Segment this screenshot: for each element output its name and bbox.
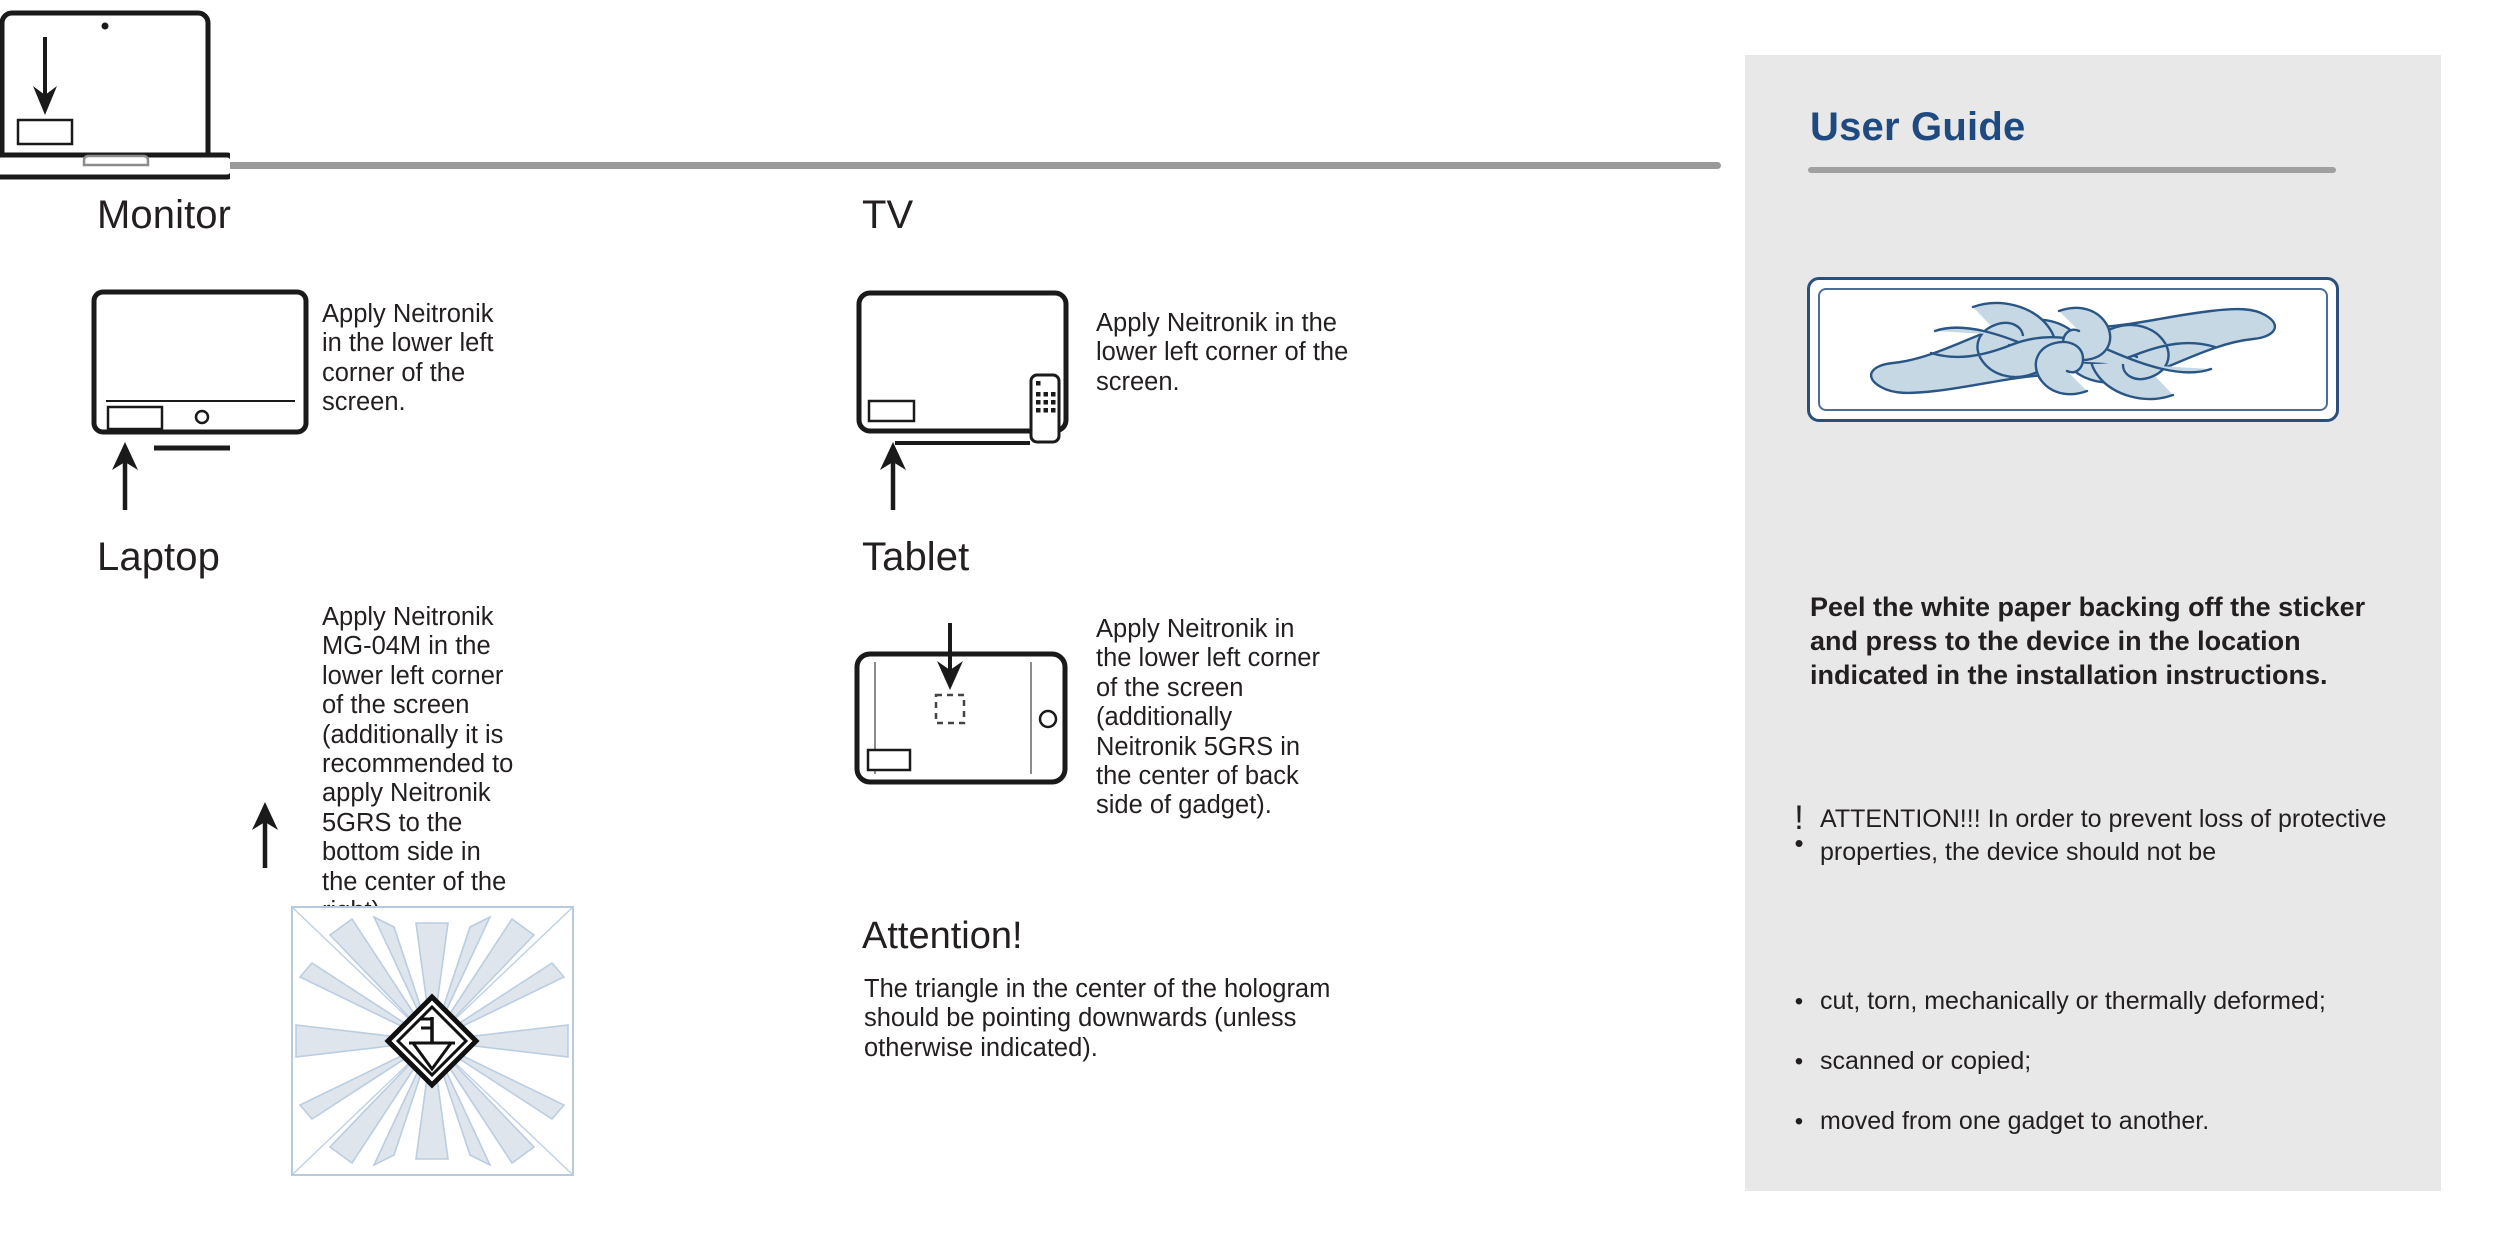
tv-arrow-up-icon [868, 440, 918, 517]
section-title-laptop: Laptop [97, 535, 220, 580]
monitor-arrow-up-icon [100, 440, 150, 517]
tv-instruction-text: Apply Neitronik in the lower left corner… [1096, 309, 1368, 397]
sidebar-attention-block: ! • ATTENTION!!! In order to prevent los… [1778, 803, 2398, 869]
top-divider [59, 162, 1721, 169]
bullet-dot-icon: • [1778, 1105, 1820, 1138]
user-guide-panel: User Guide [1745, 55, 2441, 1191]
neitronik-knot-icon [1823, 291, 2323, 409]
attention-body-text: The triangle in the center of the hologr… [864, 975, 1374, 1063]
sticker-preview [1807, 277, 2339, 422]
list-item: • scanned or copied; [1778, 1045, 2408, 1078]
tablet-instruction-text: Apply Neitronik in the lower left corner… [1096, 615, 1326, 821]
section-title-monitor: Monitor [97, 193, 231, 238]
laptop-arrow-up-icon [240, 800, 290, 875]
list-item-label: moved from one gadget to another. [1820, 1105, 2209, 1138]
peel-instruction-text: Peel the white paper backing off the sti… [1810, 590, 2388, 692]
monitor-instruction-text: Apply Neitronik in the lower left corner… [322, 300, 518, 418]
list-item-label: cut, torn, mechanically or thermally def… [1820, 985, 2326, 1018]
bullet-dot-icon: • [1778, 833, 1820, 853]
bullet-dot-icon: • [1778, 985, 1820, 1018]
list-item-label: scanned or copied; [1820, 1045, 2031, 1078]
laptop-icon [0, 0, 230, 185]
hologram-sample [290, 905, 575, 1182]
user-guide-divider [1808, 167, 2336, 173]
list-item: • moved from one gadget to another. [1778, 1105, 2408, 1138]
exclamation-icon: ! • [1778, 803, 1820, 853]
section-title-tv: TV [862, 193, 913, 238]
bullet-dot-icon: • [1778, 1045, 1820, 1078]
list-item: • cut, torn, mechanically or thermally d… [1778, 985, 2408, 1018]
sidebar-warning-text: ATTENTION!!! In order to prevent loss of… [1820, 803, 2398, 869]
laptop-instruction-text: Apply Neitronik MG-04M in the lower left… [322, 603, 520, 926]
section-title-tablet: Tablet [862, 535, 969, 580]
sidebar-warning-row: ! • ATTENTION!!! In order to prevent los… [1778, 803, 2398, 869]
tablet-icon [853, 622, 1078, 792]
attention-heading: Attention! [862, 915, 1023, 958]
user-guide-title: User Guide [1810, 105, 2025, 150]
page-root: Monitor Apply Neitronik in the lower lef… [0, 0, 2501, 1257]
prohibition-list: • cut, torn, mechanically or thermally d… [1778, 985, 2408, 1165]
sticker-inner-frame [1818, 288, 2328, 411]
